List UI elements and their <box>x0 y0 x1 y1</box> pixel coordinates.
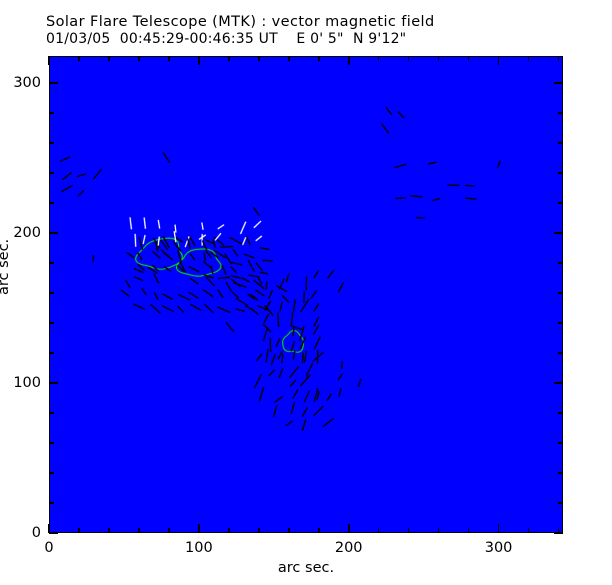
y-tick-right <box>558 292 563 294</box>
y-tick-left <box>49 502 54 504</box>
y-tick-label: 300 <box>6 76 41 90</box>
y-tick-right <box>554 232 563 234</box>
x-tick-bottom <box>108 528 110 533</box>
y-tick-right <box>558 472 563 474</box>
y-tick-right <box>558 262 563 264</box>
y-tick-right <box>554 382 563 384</box>
y-tick-right <box>554 532 563 534</box>
x-tick-top <box>198 56 200 65</box>
x-tick-top <box>228 56 230 61</box>
y-tick-left <box>49 292 54 294</box>
y-tick-right <box>558 322 563 324</box>
y-tick-left <box>49 202 54 204</box>
y-tick-left <box>49 82 58 84</box>
y-tick-left <box>49 232 58 234</box>
y-tick-right <box>558 442 563 444</box>
title-block: Solar Flare Telescope (MTK) : vector mag… <box>46 14 586 47</box>
x-tick-bottom <box>168 528 170 533</box>
x-tick-top <box>258 56 260 61</box>
x-tick-label: 300 <box>485 541 513 555</box>
x-tick-bottom <box>468 528 470 533</box>
x-tick-top <box>138 56 140 61</box>
y-tick-left <box>49 262 54 264</box>
x-tick-bottom <box>498 524 500 533</box>
x-tick-bottom <box>528 528 530 533</box>
x-tick-top <box>468 56 470 61</box>
y-tick-left <box>49 412 54 414</box>
y-tick-right <box>558 202 563 204</box>
x-tick-top <box>48 56 50 65</box>
x-tick-label: 100 <box>185 541 213 555</box>
x-tick-bottom <box>198 524 200 533</box>
page-title: Solar Flare Telescope (MTK) : vector mag… <box>46 14 586 31</box>
y-tick-right <box>558 412 563 414</box>
x-tick-bottom <box>318 528 320 533</box>
x-tick-bottom <box>348 524 350 533</box>
magnetogram-plot-area <box>49 56 563 533</box>
y-tick-left <box>49 382 58 384</box>
y-tick-label: 0 <box>6 526 41 540</box>
x-tick-bottom <box>378 528 380 533</box>
y-tick-right <box>558 142 563 144</box>
x-tick-top <box>498 56 500 65</box>
y-tick-left <box>49 442 54 444</box>
y-tick-left <box>49 142 54 144</box>
x-tick-bottom <box>228 528 230 533</box>
y-tick-left <box>49 472 54 474</box>
x-tick-top <box>78 56 80 61</box>
y-tick-right <box>558 172 563 174</box>
y-tick-right <box>558 352 563 354</box>
x-tick-top <box>288 56 290 61</box>
y-tick-left <box>49 532 58 534</box>
y-tick-left <box>49 352 54 354</box>
x-tick-bottom <box>138 528 140 533</box>
x-tick-top <box>528 56 530 61</box>
x-tick-top <box>108 56 110 61</box>
x-tick-bottom <box>408 528 410 533</box>
x-tick-label: 200 <box>335 541 363 555</box>
y-tick-label: 100 <box>6 376 41 390</box>
x-tick-bottom <box>78 528 80 533</box>
y-axis-title: arc sec. <box>0 239 12 295</box>
x-tick-label: 0 <box>44 541 53 555</box>
x-tick-bottom <box>258 528 260 533</box>
y-tick-right <box>558 112 563 114</box>
x-tick-bottom <box>438 528 440 533</box>
x-tick-bottom <box>288 528 290 533</box>
vector-field-overlay <box>50 57 562 532</box>
y-tick-right <box>558 502 563 504</box>
y-tick-left <box>49 172 54 174</box>
figure-root: Solar Flare Telescope (MTK) : vector mag… <box>0 0 612 585</box>
x-axis-title: arc sec. <box>0 560 612 576</box>
y-tick-left <box>49 322 54 324</box>
x-tick-top <box>408 56 410 61</box>
x-tick-top <box>378 56 380 61</box>
x-tick-top <box>558 56 560 61</box>
y-tick-right <box>554 82 563 84</box>
x-tick-top <box>438 56 440 61</box>
x-tick-top <box>168 56 170 61</box>
y-tick-left <box>49 112 54 114</box>
observation-subtitle: 01/03/05 00:45:29-00:46:35 UT E 0' 5" N … <box>46 31 586 47</box>
x-tick-top <box>348 56 350 65</box>
x-tick-top <box>318 56 320 61</box>
